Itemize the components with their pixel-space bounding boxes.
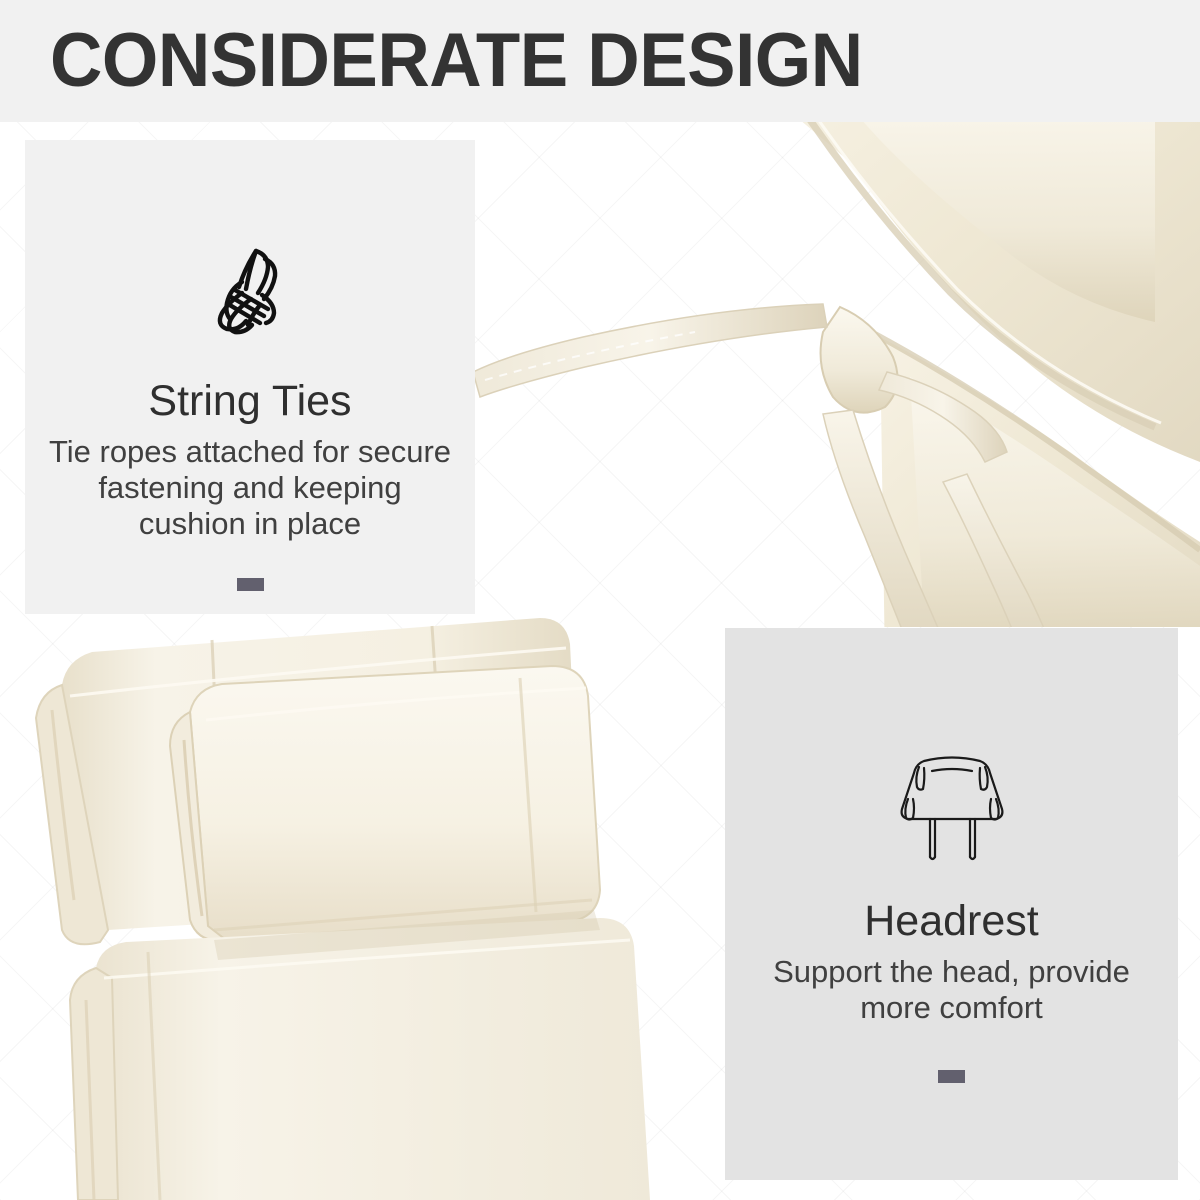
feature-card-headrest: Headrest Support the head, provide more … <box>725 628 1178 1180</box>
headrest-cushion-photo <box>0 600 730 1200</box>
card-heading: Headrest <box>864 894 1038 948</box>
page-title: CONSIDERATE DESIGN <box>50 16 863 106</box>
feature-card-string-ties: String Ties Tie ropes attached for secur… <box>25 140 475 614</box>
tie-straps-photo <box>455 122 1200 627</box>
card-body: Support the head, provide more comfort <box>725 954 1178 1026</box>
header-bar: CONSIDERATE DESIGN <box>0 0 1200 122</box>
card-dash-marker <box>938 1070 965 1083</box>
card-heading: String Ties <box>148 374 351 428</box>
headrest-icon <box>894 746 1010 866</box>
card-body: Tie ropes attached for secure fastening … <box>25 434 475 542</box>
infographic-page: String Ties Tie ropes attached for secur… <box>0 0 1200 1200</box>
card-dash-marker <box>237 578 264 591</box>
rope-coil-icon <box>196 232 304 342</box>
